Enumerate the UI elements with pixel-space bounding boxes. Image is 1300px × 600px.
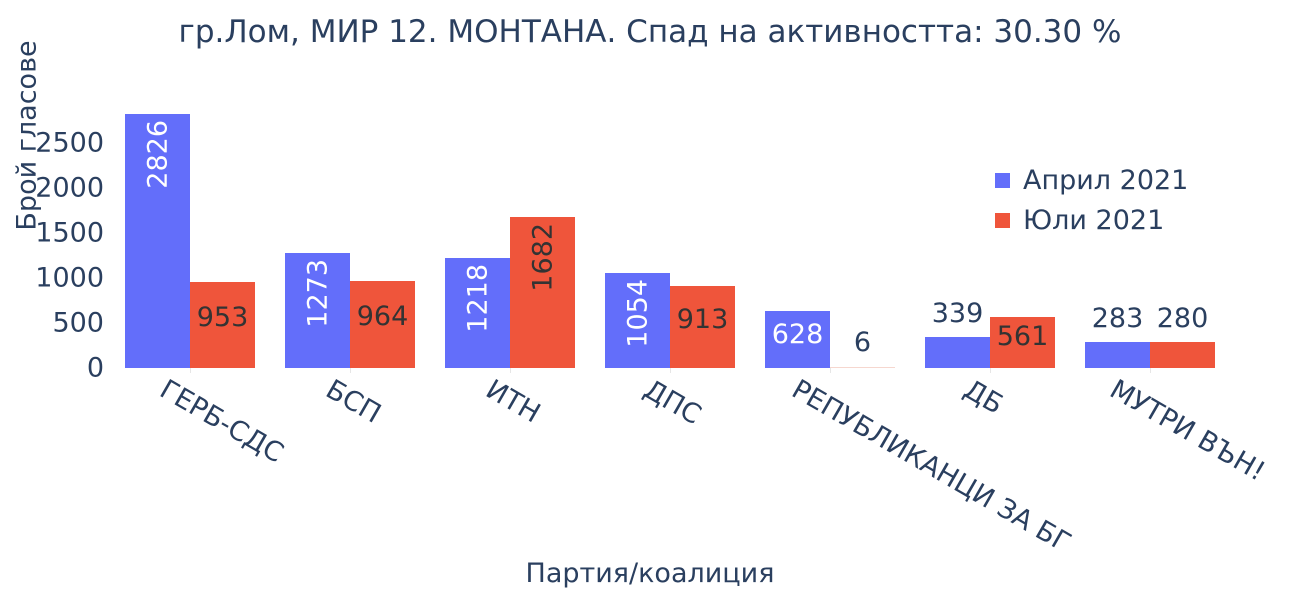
bar-value-label: 628 — [772, 321, 824, 348]
bar-value-label: 339 — [932, 300, 984, 327]
y-tick-label: 2500 — [12, 128, 104, 159]
legend-label: Юли 2021 — [1023, 205, 1164, 236]
bar-juli-2021[interactable]: 561 — [990, 317, 1055, 368]
chart-title: гр.Лом, МИР 12. МОНТАНА. Спад на активно… — [0, 14, 1300, 50]
legend-label: Април 2021 — [1023, 165, 1188, 196]
bar-value-label: 283 — [1092, 305, 1144, 332]
bar-april-2021[interactable]: 1218 — [445, 258, 510, 368]
x-tick-mark — [1150, 368, 1151, 373]
x-tick-mark — [190, 368, 191, 373]
x-tick-label-bsp: БСП — [321, 374, 386, 430]
bar-value-label: 964 — [357, 303, 409, 330]
bar-value-label: 1273 — [304, 259, 331, 328]
bar-value-label: 1054 — [624, 279, 651, 348]
x-tick-label-dps: ДПС — [639, 374, 707, 431]
square-marker-icon — [995, 213, 1010, 228]
legend: Април 2021 Юли 2021 — [995, 160, 1188, 240]
x-tick-label-mutri-van: МУТРИ ВЪН! — [1105, 374, 1271, 488]
y-tick-label: 0 — [12, 353, 104, 384]
bar-value-label: 6 — [854, 329, 871, 356]
x-tick-mark — [830, 368, 831, 373]
bar-value-label: 2826 — [144, 120, 171, 189]
bar-value-label: 1682 — [529, 223, 556, 292]
y-tick-label: 2000 — [12, 173, 104, 204]
x-tick-label-republikanci: РЕПУБЛИКАНЦИ ЗА БГ — [787, 374, 1076, 559]
bar-group: 1054 913 — [605, 100, 735, 368]
bar-juli-2021[interactable]: 964 — [350, 281, 415, 368]
bar-group: 1218 1682 — [445, 100, 575, 368]
bar-value-label: 953 — [197, 304, 249, 331]
bar-juli-2021[interactable]: 280 — [1150, 342, 1215, 368]
bar-value-label: 1218 — [464, 264, 491, 333]
x-tick-label-db: ДБ — [959, 374, 1009, 421]
legend-item-juli-2021[interactable]: Юли 2021 — [995, 200, 1188, 240]
x-tick-mark — [990, 368, 991, 373]
x-tick-label-gerb-sds: ГЕРБ-СДС — [155, 374, 289, 469]
y-tick-label: 1500 — [12, 218, 104, 249]
bar-april-2021[interactable]: 339 — [925, 337, 990, 368]
y-tick-label: 500 — [12, 308, 104, 339]
bar-juli-2021[interactable]: 1682 — [510, 217, 575, 368]
bar-juli-2021[interactable]: 6 — [830, 367, 895, 368]
bar-april-2021[interactable]: 628 — [765, 311, 830, 368]
bar-april-2021[interactable]: 283 — [1085, 342, 1150, 368]
x-tick-mark — [670, 368, 671, 373]
bar-april-2021[interactable]: 1054 — [605, 273, 670, 368]
x-tick-label-itn: ИТН — [481, 374, 546, 429]
y-tick-label: 1000 — [12, 263, 104, 294]
bar-juli-2021[interactable]: 953 — [190, 282, 255, 368]
x-axis-title: Партия/коалиция — [0, 558, 1300, 589]
square-marker-icon — [995, 173, 1010, 188]
bar-april-2021[interactable]: 1273 — [285, 253, 350, 368]
y-axis-ticks: 2500 2000 1500 1000 500 0 — [10, 0, 104, 600]
bar-value-label: 561 — [997, 323, 1049, 350]
bar-value-label: 280 — [1157, 305, 1209, 332]
bar-value-label: 913 — [677, 306, 729, 333]
x-tick-mark — [510, 368, 511, 373]
x-tick-mark — [350, 368, 351, 373]
bar-juli-2021[interactable]: 913 — [670, 286, 735, 368]
bar-group: 628 6 — [765, 100, 895, 368]
bar-group: 2826 953 — [125, 100, 255, 368]
bar-april-2021[interactable]: 2826 — [125, 114, 190, 368]
legend-item-april-2021[interactable]: Април 2021 — [995, 160, 1188, 200]
bar-group: 1273 964 — [285, 100, 415, 368]
bar-chart: гр.Лом, МИР 12. МОНТАНА. Спад на активно… — [0, 0, 1300, 600]
